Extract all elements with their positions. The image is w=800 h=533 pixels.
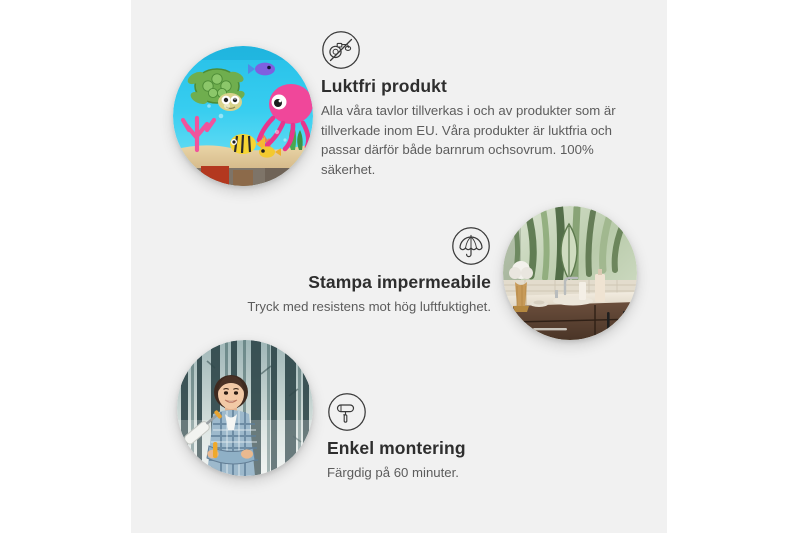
feature-odour-free-title: Luktfri produkt	[321, 76, 641, 98]
paint-roller-icon	[327, 392, 367, 432]
feature-odour-free-text: Luktfri produkt Alla våra tavlor tillver…	[321, 76, 641, 180]
underwater-cartoon-mural-photo	[173, 46, 313, 186]
feature-easy-mounting-body: Färgdig på 60 minuter.	[327, 463, 627, 483]
feature-easy-mounting-title: Enkel montering	[327, 438, 627, 460]
umbrella-icon	[451, 226, 491, 266]
feature-waterproof-print-title: Stampa impermeabile	[191, 272, 491, 294]
no-odour-spray-bottle-icon	[321, 30, 361, 70]
feature-waterproof-print-text: Stampa impermeabile Tryck med resistens …	[191, 272, 491, 317]
feature-odour-free-body: Alla våra tavlor tillverkas i och av pro…	[321, 101, 641, 180]
woman-with-paint-roller-photo	[177, 340, 313, 476]
screenshot-canvas: Luktfri produkt Alla våra tavlor tillver…	[0, 0, 800, 533]
feature-waterproof-print-body: Tryck med resistens mot hög luftfuktighe…	[191, 297, 491, 317]
content-panel: Luktfri produkt Alla våra tavlor tillver…	[131, 0, 667, 533]
feature-easy-mounting-text: Enkel montering Färgdig på 60 minuter.	[327, 438, 627, 483]
bathroom-tropical-wallpaper-photo	[503, 206, 637, 340]
